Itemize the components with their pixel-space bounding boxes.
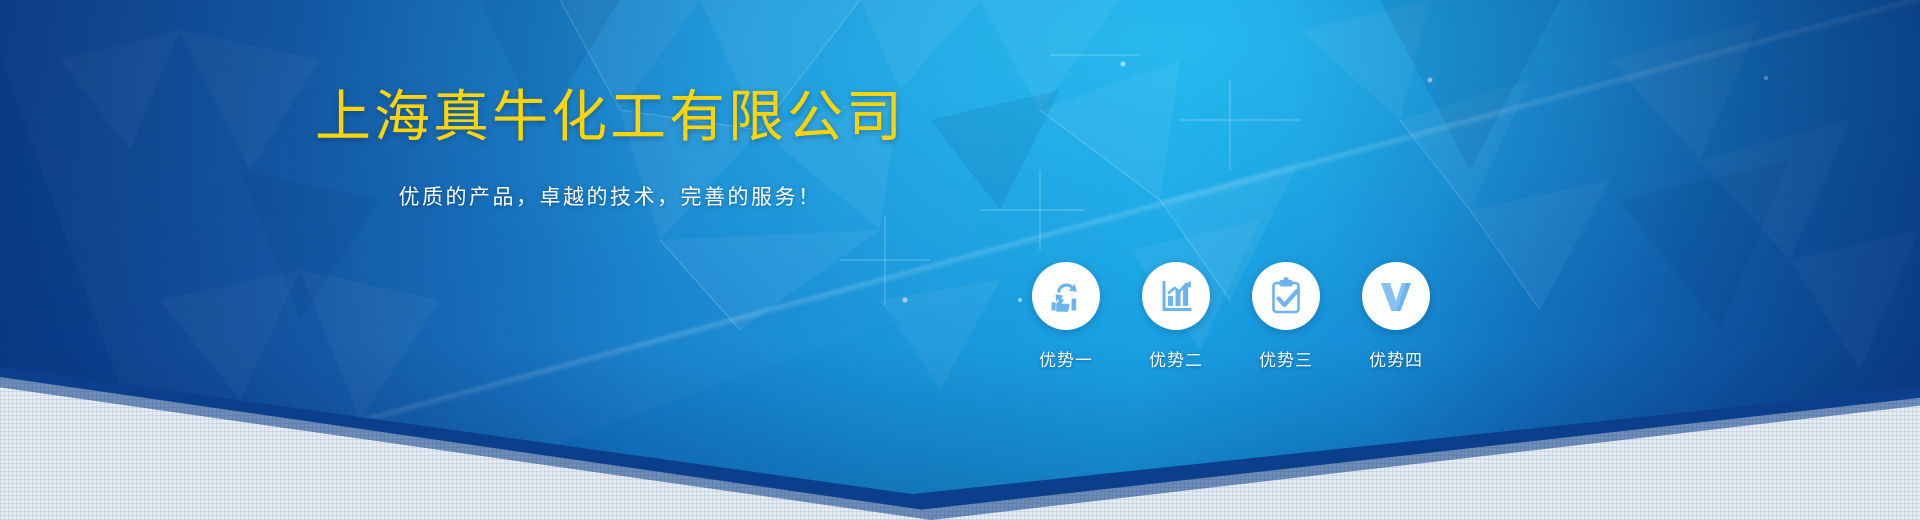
refresh-thumbsup-icon <box>1046 276 1086 316</box>
advantage-label-two: 优势二 <box>1149 346 1203 371</box>
advantage-item-one[interactable]: 优势一 <box>1030 262 1102 371</box>
advantage-item-three[interactable]: 优势三 <box>1250 262 1322 371</box>
advantage-icon-bubble-four[interactable] <box>1362 262 1430 330</box>
advantage-icon-bubble-two[interactable] <box>1142 262 1210 330</box>
advantage-label-four: 优势四 <box>1369 346 1423 371</box>
advantage-item-two[interactable]: 优势二 <box>1140 262 1212 371</box>
advantage-icon-bubble-three[interactable] <box>1252 262 1320 330</box>
company-title: 上海真牛化工有限公司 <box>300 86 920 149</box>
company-slogan: 优质的产品，卓越的技术，完善的服务！ <box>300 181 920 211</box>
advantage-item-four[interactable]: 优势四 <box>1360 262 1432 371</box>
advantages-list: 优势一 优势二 <box>1030 262 1432 371</box>
advantage-label-one: 优势一 <box>1039 346 1093 371</box>
bar-chart-growth-icon <box>1156 276 1196 316</box>
hero-copy-block: 上海真牛化工有限公司 优质的产品，卓越的技术，完善的服务！ <box>300 86 920 211</box>
letter-v-icon <box>1376 276 1416 316</box>
company-hero-banner: 上海真牛化工有限公司 优质的产品，卓越的技术，完善的服务！ 优势一 <box>0 0 1920 520</box>
advantage-icon-bubble-one[interactable] <box>1032 262 1100 330</box>
clipboard-check-icon <box>1266 276 1306 316</box>
advantage-label-three: 优势三 <box>1259 346 1313 371</box>
